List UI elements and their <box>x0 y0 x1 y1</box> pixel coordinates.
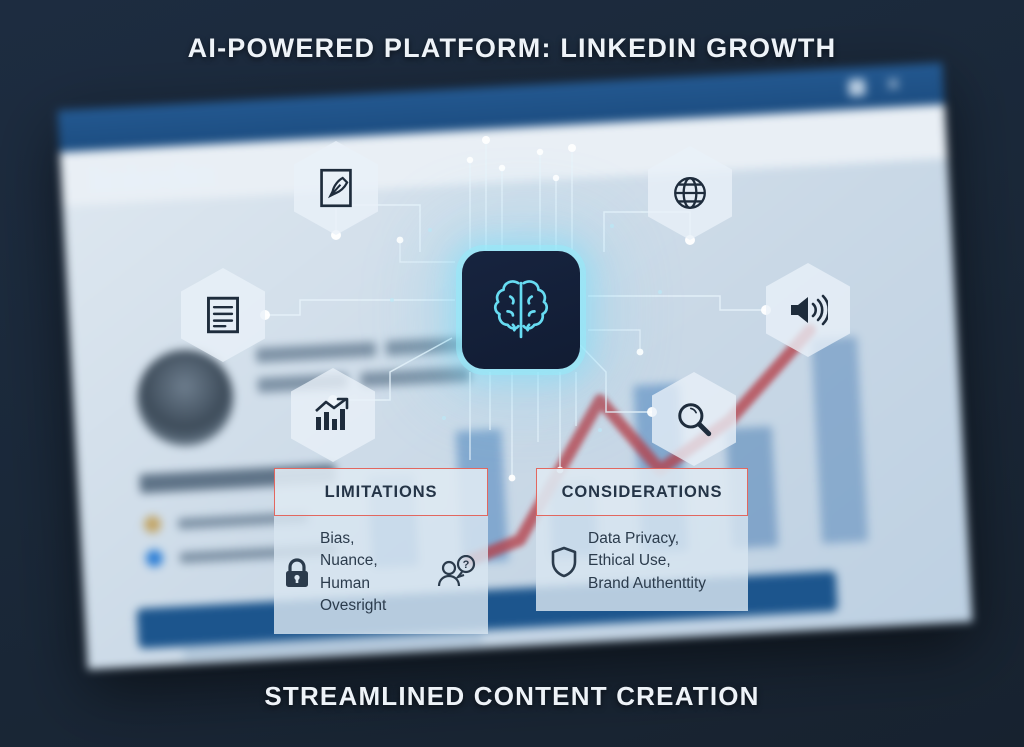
page-title-top: AI-POWERED PLATFORM: LINKEDIN GROWTH <box>0 33 1024 64</box>
card-limitations: LIMITATIONS Bias, Nuance, Human Ovesrigh… <box>274 468 488 634</box>
card-limitations-text: Bias, Nuance, Human Ovesright <box>320 528 426 618</box>
document-lines-icon <box>205 296 241 334</box>
card-considerations-text: Data Privacy, Ethical Use, Brand Authent… <box>588 528 736 595</box>
shield-icon <box>550 546 578 578</box>
globe-icon <box>671 174 709 212</box>
card-considerations: CONSIDERATIONS Data Privacy, Ethical Use… <box>536 468 748 611</box>
person-question-icon: ? <box>436 555 476 591</box>
document-quill-icon <box>318 168 354 208</box>
lock-icon <box>284 558 310 588</box>
card-considerations-heading: CONSIDERATIONS <box>536 468 748 516</box>
card-limitations-heading: LIMITATIONS <box>274 468 488 516</box>
circuit-traces <box>0 0 1024 747</box>
brain-chip-icon <box>478 267 564 353</box>
svg-text:?: ? <box>463 559 470 571</box>
magnifier-icon <box>675 400 713 438</box>
page-title-bottom: STREAMLINED CONTENT CREATION <box>0 681 1024 712</box>
speaker-icon <box>788 293 828 327</box>
bar-chart-growth-icon <box>313 397 353 433</box>
infographic-canvas: ✕ linkedin <box>0 0 1024 747</box>
ai-brain-chip[interactable] <box>462 251 580 369</box>
